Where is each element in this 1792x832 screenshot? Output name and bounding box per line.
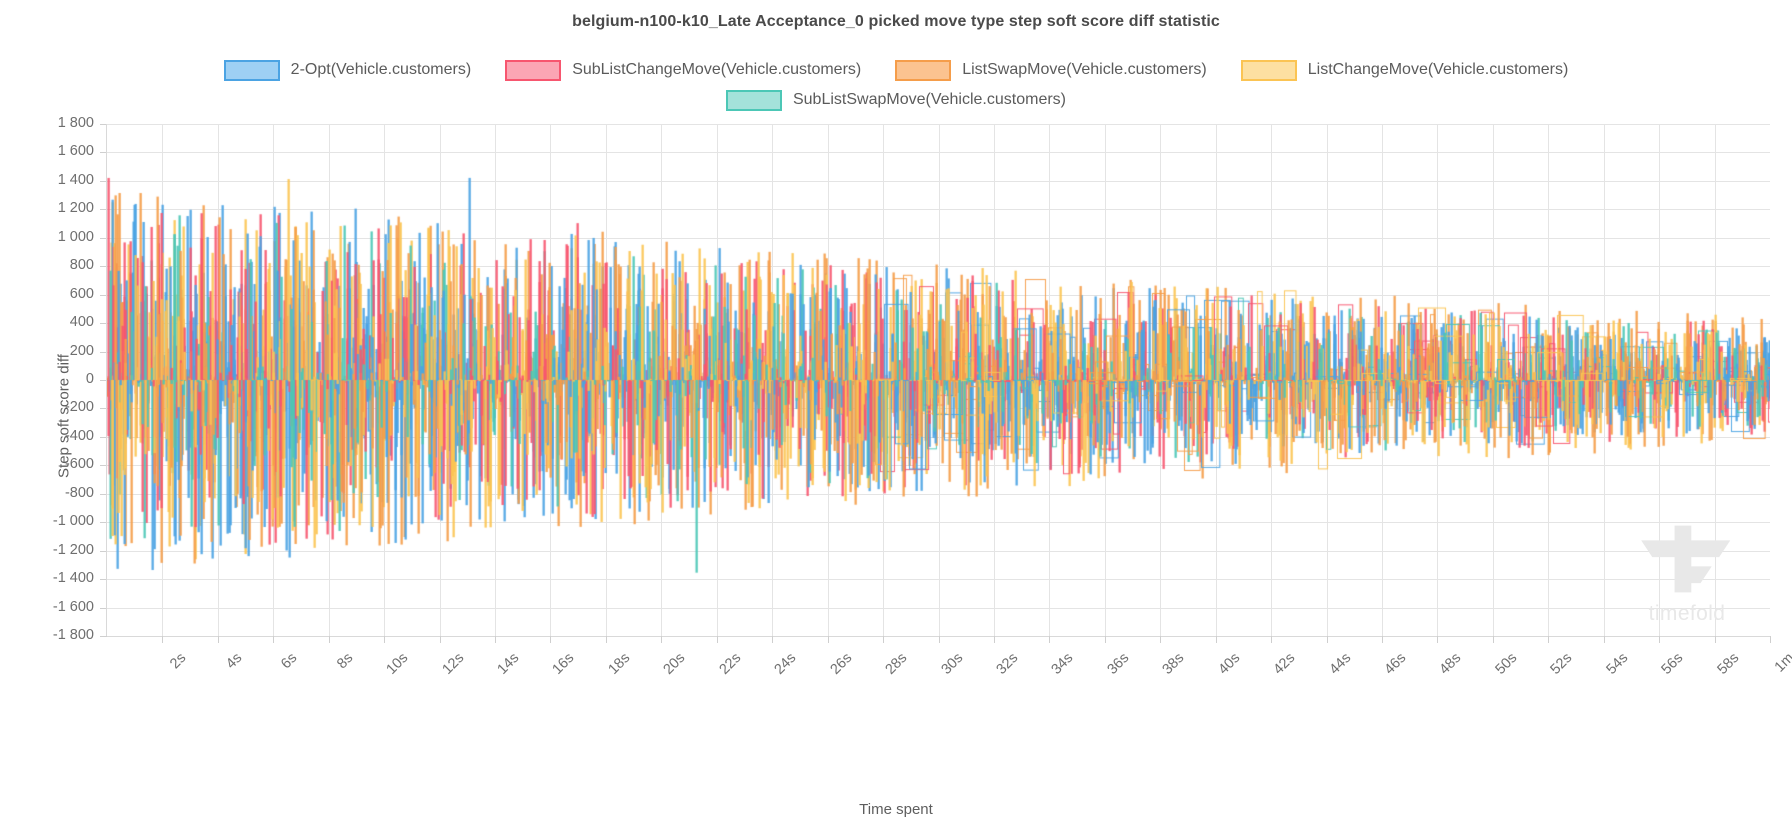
y-tick-label: -1 800 (53, 627, 94, 643)
legend-swatch-0 (224, 60, 280, 81)
x-axis-title: Time spent (0, 801, 1792, 818)
x-tick-mark (828, 636, 829, 643)
y-tick-label: -1 400 (53, 570, 94, 586)
x-tick-label: 52s (1472, 650, 1575, 753)
legend-swatch-3 (1241, 60, 1297, 81)
x-tick-label: 30s (863, 650, 966, 753)
legend-label-3: ListChangeMove(Vehicle.customers) (1308, 61, 1569, 79)
page-title: belgium-n100-k10_Late Acceptance_0 picke… (0, 13, 1792, 31)
x-tick-label: 24s (696, 650, 799, 753)
x-tick-mark (606, 636, 607, 643)
x-tick-mark (550, 636, 551, 643)
x-tick-label: 1m (1694, 650, 1792, 753)
x-tick-mark (1271, 636, 1272, 643)
y-tick-mark (100, 636, 107, 637)
x-tick-label: 58s (1639, 650, 1742, 753)
x-tick-label: 56s (1583, 650, 1686, 753)
x-tick-label: 16s (475, 650, 578, 753)
y-tick-label: -600 (65, 456, 94, 472)
y-tick-label: 800 (70, 257, 94, 273)
legend-swatch-1 (505, 60, 561, 81)
legend-item-0[interactable]: 2-Opt(Vehicle.customers) (224, 55, 472, 85)
y-tick-label: 1 600 (58, 143, 94, 159)
x-tick-label: 42s (1195, 650, 1298, 753)
y-tick-label: -400 (65, 428, 94, 444)
x-tick-mark (329, 636, 330, 643)
y-tick-label: -800 (65, 485, 94, 501)
x-tick-label: 50s (1417, 650, 1520, 753)
x-tick-label: 8s (253, 650, 356, 753)
x-tick-label: 34s (973, 650, 1076, 753)
x-tick-mark (1382, 636, 1383, 643)
y-tick-label: -1 600 (53, 599, 94, 615)
x-tick-label: 26s (752, 650, 855, 753)
x-tick-mark (440, 636, 441, 643)
x-tick-mark (939, 636, 940, 643)
x-tick-label: 4s (142, 650, 245, 753)
x-tick-label: 14s (419, 650, 522, 753)
x-tick-label: 36s (1029, 650, 1132, 753)
x-tick-label: 44s (1251, 650, 1354, 753)
x-tick-mark (1659, 636, 1660, 643)
x-tick-mark (1770, 636, 1771, 643)
x-tick-mark (772, 636, 773, 643)
y-tick-label: 1 800 (58, 115, 94, 131)
x-tick-mark (1160, 636, 1161, 643)
x-tick-label: 18s (530, 650, 633, 753)
x-tick-mark (273, 636, 274, 643)
plot-area: timefold (107, 124, 1770, 636)
x-tick-label: 40s (1140, 650, 1243, 753)
y-tick-label: 600 (70, 286, 94, 302)
chart-legend: 2-Opt(Vehicle.customers)SubListChangeMov… (0, 55, 1792, 115)
x-tick-label: 22s (641, 650, 744, 753)
x-tick-mark (1437, 636, 1438, 643)
legend-item-3[interactable]: ListChangeMove(Vehicle.customers) (1241, 55, 1569, 85)
x-tick-mark (1604, 636, 1605, 643)
y-tick-label: 200 (70, 343, 94, 359)
x-tick-mark (1548, 636, 1549, 643)
y-tick-label: 1 400 (58, 172, 94, 188)
x-tick-label: 46s (1306, 650, 1409, 753)
y-axis-line (106, 124, 107, 636)
x-tick-label: 10s (308, 650, 411, 753)
y-tick-label: 1 000 (58, 229, 94, 245)
plot-frame: timefold (107, 124, 1770, 636)
x-tick-mark (162, 636, 163, 643)
x-tick-mark (495, 636, 496, 643)
x-tick-label: 2s (86, 650, 189, 753)
bars-canvas (107, 124, 1770, 636)
legend-label-2: ListSwapMove(Vehicle.customers) (962, 61, 1207, 79)
legend-swatch-2 (895, 60, 951, 81)
x-tick-label: 28s (807, 650, 910, 753)
legend-label-1: SubListChangeMove(Vehicle.customers) (572, 61, 861, 79)
x-tick-mark (994, 636, 995, 643)
x-tick-mark (384, 636, 385, 643)
x-tick-mark (717, 636, 718, 643)
y-tick-label: 1 200 (58, 200, 94, 216)
x-tick-mark (1216, 636, 1217, 643)
legend-label-4: SubListSwapMove(Vehicle.customers) (793, 91, 1066, 109)
legend-item-4[interactable]: SubListSwapMove(Vehicle.customers) (726, 85, 1066, 115)
y-tick-label: -1 200 (53, 542, 94, 558)
x-tick-label: 54s (1528, 650, 1631, 753)
y-tick-label: -1 000 (53, 513, 94, 529)
y-tick-label: 0 (86, 371, 94, 387)
x-tick-mark (883, 636, 884, 643)
x-tick-mark (218, 636, 219, 643)
x-tick-mark (1493, 636, 1494, 643)
y-tick-label: -200 (65, 399, 94, 415)
legend-item-2[interactable]: ListSwapMove(Vehicle.customers) (895, 55, 1207, 85)
y-tick-label: 400 (70, 314, 94, 330)
x-tick-label: 20s (585, 650, 688, 753)
x-tick-label: 6s (197, 650, 300, 753)
legend-item-1[interactable]: SubListChangeMove(Vehicle.customers) (505, 55, 861, 85)
legend-swatch-4 (726, 90, 782, 111)
x-tick-label: 12s (364, 650, 467, 753)
x-tick-mark (1049, 636, 1050, 643)
x-tick-label: 38s (1084, 650, 1187, 753)
x-tick-mark (1327, 636, 1328, 643)
x-tick-label: 48s (1361, 650, 1464, 753)
legend-label-0: 2-Opt(Vehicle.customers) (291, 61, 472, 79)
x-tick-label: 32s (918, 650, 1021, 753)
x-tick-mark (1105, 636, 1106, 643)
chart-page: belgium-n100-k10_Late Acceptance_0 picke… (0, 0, 1792, 832)
x-tick-mark (661, 636, 662, 643)
x-tick-mark (1715, 636, 1716, 643)
